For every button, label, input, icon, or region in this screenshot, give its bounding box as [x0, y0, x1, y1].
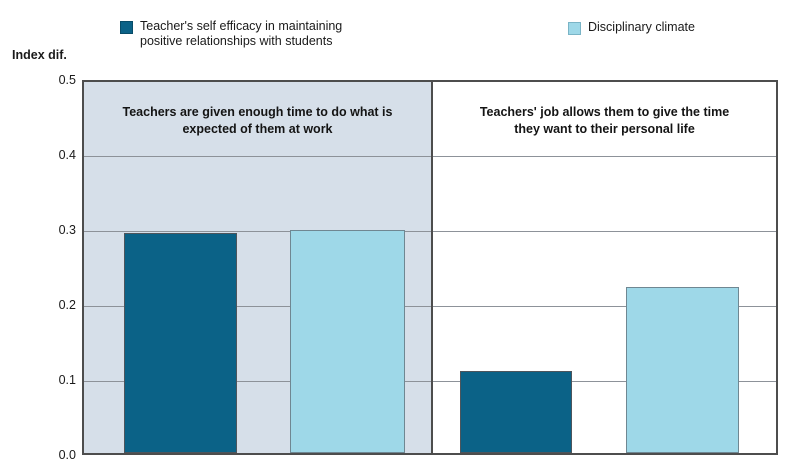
y-tick-label: 0.0 — [6, 448, 76, 462]
chart-plot-area: Teachers are given enough time to do wha… — [82, 80, 778, 455]
chart-panel-personal-life: Teachers' job allows them to give the ti… — [433, 82, 776, 453]
legend-item-disciplinary-climate: Disciplinary climate — [568, 20, 695, 35]
gridline — [433, 156, 776, 157]
gridline — [84, 156, 431, 157]
legend-swatch-icon-self-efficacy — [120, 21, 133, 34]
chart-panel-time-expected: Teachers are given enough time to do wha… — [84, 82, 433, 453]
y-tick-label: 0.4 — [6, 148, 76, 162]
bar-disciplinary-climate-personal-life — [626, 287, 739, 454]
y-tick-label: 0.1 — [6, 373, 76, 387]
y-tick-label: 0.2 — [6, 298, 76, 312]
legend-item-self-efficacy: Teacher's self efficacy in maintaining p… — [120, 19, 342, 49]
chart-legend: Teacher's self efficacy in maintaining p… — [0, 0, 800, 62]
bar-self-efficacy-time-expected — [124, 233, 237, 454]
legend-swatch-icon-disciplinary-climate — [568, 22, 581, 35]
y-axis-tick-labels: 0.5 0.4 0.3 0.2 0.1 0.0 — [0, 0, 76, 471]
y-tick-label: 0.5 — [6, 73, 76, 87]
y-tick-label: 0.3 — [6, 223, 76, 237]
panel-title-time-expected: Teachers are given enough time to do wha… — [84, 104, 431, 138]
panel-title-personal-life: Teachers' job allows them to give the ti… — [433, 104, 776, 138]
legend-label-self-efficacy: Teacher's self efficacy in maintaining p… — [140, 19, 342, 49]
bar-self-efficacy-personal-life — [460, 371, 572, 453]
legend-label-disciplinary-climate: Disciplinary climate — [588, 20, 695, 35]
gridline — [433, 231, 776, 232]
bar-disciplinary-climate-time-expected — [290, 230, 405, 453]
